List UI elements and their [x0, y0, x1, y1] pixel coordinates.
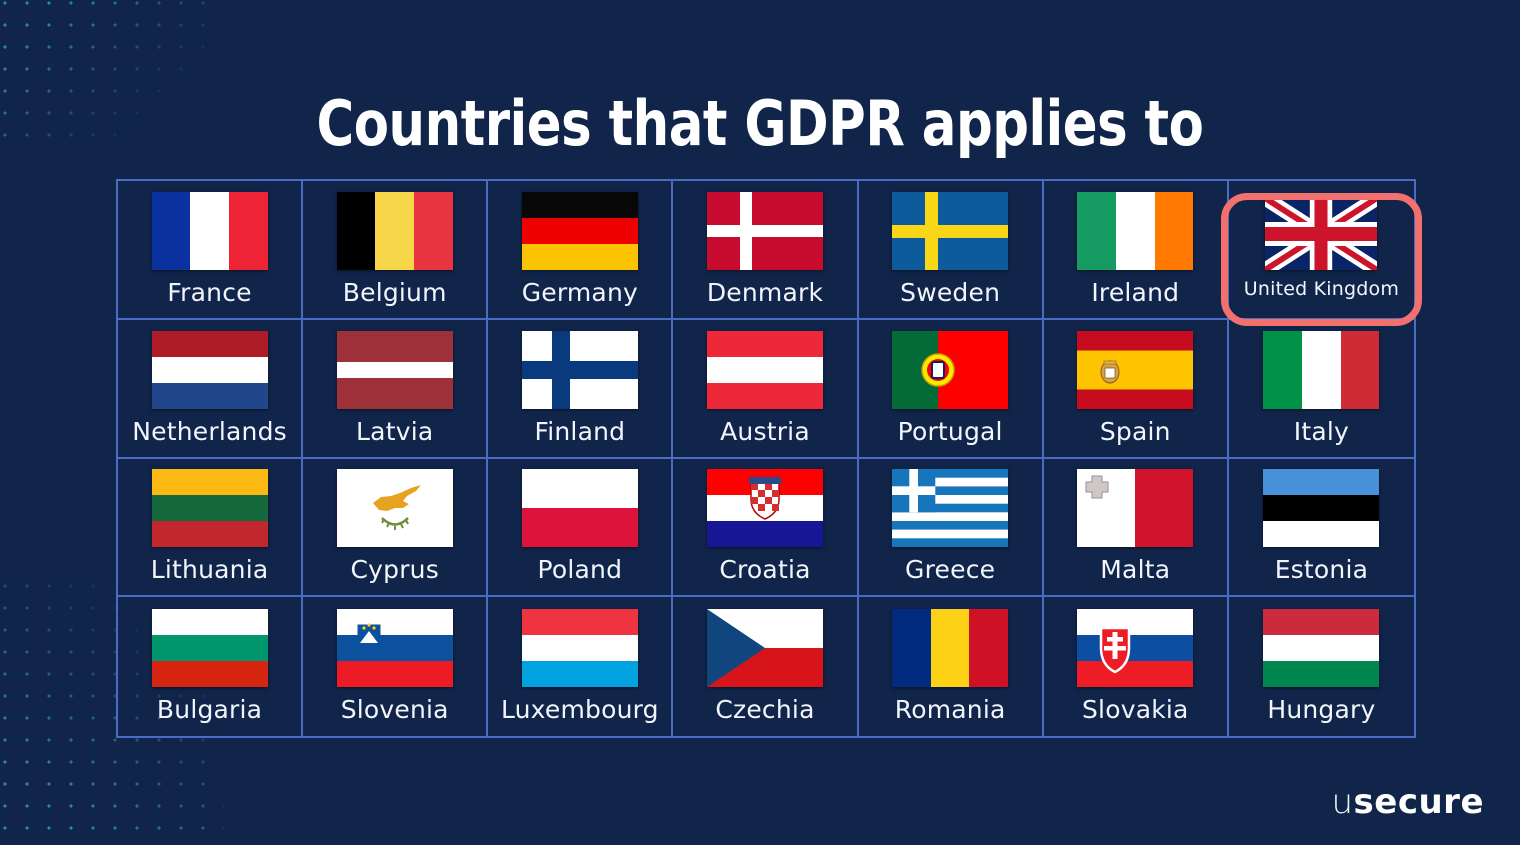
country-label: Malta: [1100, 555, 1170, 584]
flag-slovakia-icon: [1077, 609, 1193, 687]
flag-latvia-icon: [337, 331, 453, 409]
flag-luxembourg-icon: [522, 609, 638, 687]
country-cell[interactable]: Netherlands: [118, 320, 303, 459]
country-cell[interactable]: Germany: [488, 181, 673, 320]
flag-austria-icon: [707, 331, 823, 409]
flag-malta-icon: [1077, 469, 1193, 547]
country-cell[interactable]: Czechia: [673, 597, 858, 736]
country-label: Denmark: [707, 278, 823, 307]
country-cell[interactable]: Greece: [859, 459, 1044, 598]
country-label: Estonia: [1275, 555, 1368, 584]
country-label: Italy: [1294, 417, 1349, 446]
flag-spain-icon: [1077, 331, 1193, 409]
country-cell[interactable]: Slovakia: [1044, 597, 1229, 736]
flag-france-icon: [152, 192, 268, 270]
country-cell[interactable]: Sweden: [859, 181, 1044, 320]
flag-united-kingdom-icon: [1265, 198, 1377, 270]
flag-netherlands-icon: [152, 331, 268, 409]
country-cell[interactable]: Bulgaria: [118, 597, 303, 736]
flag-croatia-icon: [707, 469, 823, 547]
page-title: Countries that GDPR applies to: [61, 87, 1459, 160]
flag-portugal-icon: [892, 331, 1008, 409]
flag-denmark-icon: [707, 192, 823, 270]
country-label: United Kingdom: [1244, 278, 1399, 300]
flag-ireland-icon: [1077, 192, 1193, 270]
flag-belgium-icon: [337, 192, 453, 270]
country-cell[interactable]: Romania: [859, 597, 1044, 736]
country-label: Cyprus: [350, 555, 438, 584]
country-flag-grid: FranceBelgiumGermanyDenmarkSwedenIreland…: [116, 179, 1416, 738]
flag-czechia-icon: [707, 609, 823, 687]
country-label: Spain: [1100, 417, 1171, 446]
country-label: Croatia: [719, 555, 810, 584]
flag-finland-icon: [522, 331, 638, 409]
country-label: Hungary: [1267, 695, 1375, 724]
country-label: Ireland: [1091, 278, 1179, 307]
country-cell[interactable]: Portugal: [859, 320, 1044, 459]
country-label: Netherlands: [132, 417, 287, 446]
country-cell[interactable]: Belgium: [303, 181, 488, 320]
country-cell[interactable]: Finland: [488, 320, 673, 459]
flag-germany-icon: [522, 192, 638, 270]
flag-slovenia-icon: [337, 609, 453, 687]
usecure-logo: usecure: [1331, 782, 1484, 822]
country-cell[interactable]: Italy: [1229, 320, 1414, 459]
flag-cyprus-icon: [337, 469, 453, 547]
country-label: Lithuania: [151, 555, 269, 584]
country-label: Poland: [538, 555, 623, 584]
country-cell[interactable]: Austria: [673, 320, 858, 459]
flag-greece-icon: [892, 469, 1008, 547]
country-cell[interactable]: Latvia: [303, 320, 488, 459]
flag-italy-icon: [1263, 331, 1379, 409]
country-label: France: [167, 278, 251, 307]
logo-part-secure: secure: [1354, 782, 1484, 822]
country-label: Portugal: [898, 417, 1003, 446]
flag-romania-icon: [892, 609, 1008, 687]
country-cell[interactable]: Cyprus: [303, 459, 488, 598]
country-cell[interactable]: United Kingdom: [1229, 181, 1414, 320]
country-cell[interactable]: Ireland: [1044, 181, 1229, 320]
country-cell[interactable]: France: [118, 181, 303, 320]
country-label: Czechia: [715, 695, 814, 724]
country-label: Austria: [720, 417, 810, 446]
country-label: Romania: [895, 695, 1006, 724]
country-label: Latvia: [356, 417, 433, 446]
country-cell[interactable]: Lithuania: [118, 459, 303, 598]
country-cell[interactable]: Hungary: [1229, 597, 1414, 736]
country-cell[interactable]: Estonia: [1229, 459, 1414, 598]
country-label: Greece: [905, 555, 995, 584]
flag-lithuania-icon: [152, 469, 268, 547]
flag-hungary-icon: [1263, 609, 1379, 687]
flag-estonia-icon: [1263, 469, 1379, 547]
flag-sweden-icon: [892, 192, 1008, 270]
country-label: Slovakia: [1082, 695, 1189, 724]
country-cell[interactable]: Denmark: [673, 181, 858, 320]
country-cell[interactable]: Poland: [488, 459, 673, 598]
country-cell[interactable]: Croatia: [673, 459, 858, 598]
logo-part-u: u: [1331, 782, 1353, 822]
country-label: Finland: [534, 417, 625, 446]
country-cell[interactable]: Spain: [1044, 320, 1229, 459]
country-label: Sweden: [900, 278, 1000, 307]
country-cell[interactable]: Malta: [1044, 459, 1229, 598]
country-label: Germany: [522, 278, 638, 307]
country-label: Slovenia: [341, 695, 449, 724]
country-cell[interactable]: Slovenia: [303, 597, 488, 736]
country-label: Bulgaria: [157, 695, 262, 724]
country-cell[interactable]: Luxembourg: [488, 597, 673, 736]
flag-poland-icon: [522, 469, 638, 547]
flag-bulgaria-icon: [152, 609, 268, 687]
country-label: Luxembourg: [501, 695, 659, 724]
country-label: Belgium: [343, 278, 447, 307]
